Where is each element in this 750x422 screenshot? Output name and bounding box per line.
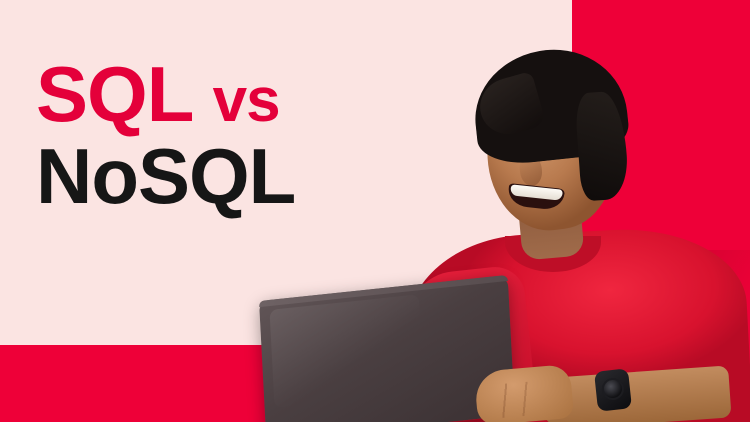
watch-face — [601, 377, 625, 401]
title-line-two: NoSQL — [36, 138, 295, 214]
title-line-one: SQL vs — [36, 56, 295, 132]
banner-canvas: SQL vs NoSQL — [0, 0, 750, 422]
title-vs: vs — [213, 66, 280, 135]
wristwatch — [594, 368, 632, 411]
title-sql: SQL — [36, 50, 192, 138]
fingers — [485, 379, 558, 419]
laptop-highlight — [269, 294, 423, 408]
banner-title: SQL vs NoSQL — [36, 56, 295, 215]
